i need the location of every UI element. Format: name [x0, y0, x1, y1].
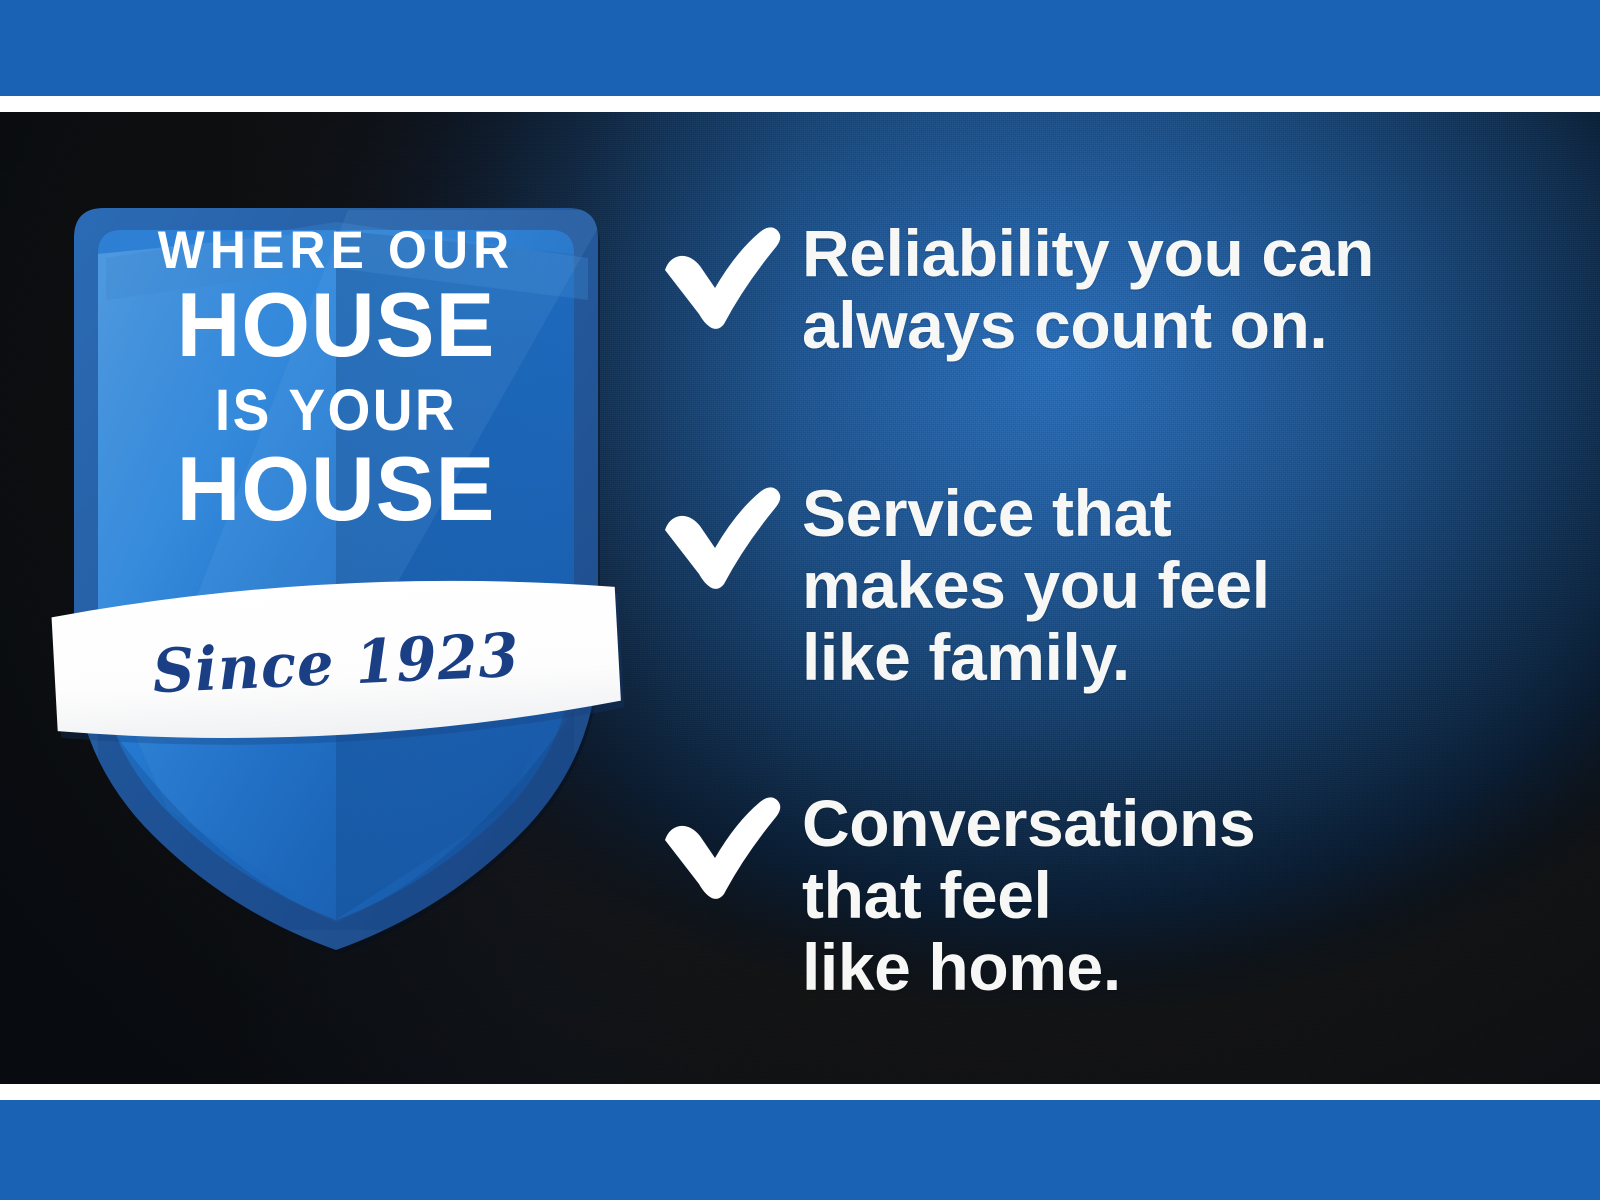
checklist-text-2-line-3: like family. — [802, 622, 1270, 694]
bottom-white-divider — [0, 1084, 1600, 1100]
checklist-text-3-line-2: that feel — [802, 860, 1255, 932]
checklist-text-3-line-3: like home. — [802, 932, 1255, 1004]
checklist-text-2: Service that makes you feel like family. — [802, 478, 1270, 694]
top-white-divider — [0, 96, 1600, 112]
checkmark-icon — [660, 214, 788, 332]
top-brand-bar — [0, 0, 1600, 96]
checklist-text-1-line-2: always count on. — [802, 290, 1374, 362]
checklist-text-2-line-1: Service that — [802, 478, 1270, 550]
checklist-item-2: Service that makes you feel like family. — [660, 474, 1270, 694]
checklist-text-1-line-1: Reliability you can — [802, 218, 1374, 290]
checklist-text-3-line-1: Conversations — [802, 788, 1255, 860]
bottom-brand-bar — [0, 1100, 1600, 1200]
shield-badge: WHERE OUR HOUSE IS YOUR HOUSE Since 1923 — [48, 150, 624, 830]
checklist-text-3: Conversations that feel like home. — [802, 788, 1255, 1004]
benefits-checklist: Reliability you can always count on. Ser… — [660, 112, 1560, 1084]
checklist-item-3: Conversations that feel like home. — [660, 784, 1255, 1004]
checkmark-icon — [660, 784, 788, 902]
checklist-text-2-line-2: makes you feel — [802, 550, 1270, 622]
checkmark-icon — [660, 474, 788, 592]
checklist-text-1: Reliability you can always count on. — [802, 218, 1374, 362]
checklist-item-1: Reliability you can always count on. — [660, 214, 1374, 362]
promo-graphic: WHERE OUR HOUSE IS YOUR HOUSE Since 1923… — [0, 0, 1600, 1200]
